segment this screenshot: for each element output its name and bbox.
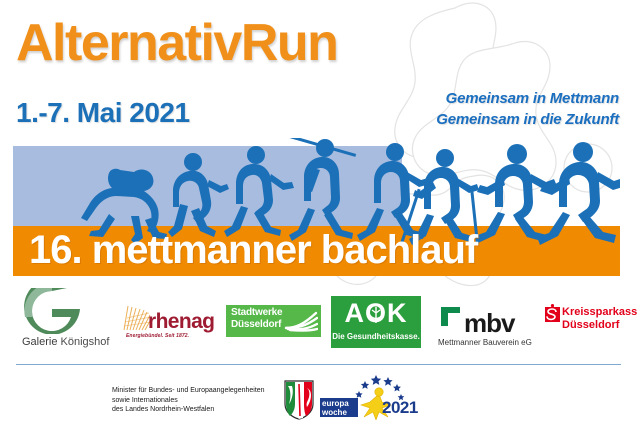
kreissparkasse-line-1: Kreissparkasse (562, 306, 637, 319)
poster-slogan: Gemeinsam in Mettmann Gemeinsam in die Z… (436, 88, 619, 130)
galerie-g-icon (22, 288, 82, 334)
sponsor-galerie-koenigshof[interactable]: Galerie Königshof (22, 288, 122, 358)
stadtwerke-waves-icon (284, 310, 318, 332)
sparkasse-s-icon (545, 304, 560, 322)
europawoche-line-1: europa (322, 399, 349, 408)
rhenag-tagline: Energiebündel. Seit 1872. (126, 333, 189, 339)
slogan-line-1: Gemeinsam in Mettmann (436, 88, 619, 109)
kreissparkasse-line-2: Düsseldorf (562, 319, 637, 332)
poster-title: AlternativRun (16, 16, 337, 70)
koenigshof-word: Königshof (61, 336, 110, 348)
sponsor-mbv[interactable]: mbv Mettmanner Bauverein eG (438, 288, 548, 358)
evolution-band: 16. mettmanner bachlauf (13, 146, 620, 276)
aok-leaf-icon (367, 304, 385, 324)
europawoche-year: 2021 (382, 398, 418, 418)
poster-canvas: AlternativRun 1.-7. Mai 2021 Gemeinsam i… (0, 0, 637, 424)
stadtwerke-line-1: Stadtwerke (231, 307, 282, 319)
nrw-coat-of-arms-icon (284, 380, 314, 420)
stadtwerke-label: Stadtwerke Düsseldorf (231, 307, 282, 331)
galerie-koenigshof-label: Galerie Königshof (22, 336, 109, 348)
mbv-tagline: Mettmanner Bauverein eG (438, 338, 532, 347)
rhenag-wordmark: rhenag (148, 310, 214, 334)
mbv-corner-icon (440, 306, 462, 328)
sponsor-rhenag[interactable]: rhenag Energiebündel. Seit 1872. (122, 288, 220, 358)
footer-divider (16, 364, 621, 365)
europawoche-label: europa woche (322, 399, 349, 417)
ministry-line-1: Minister für Bundes- und Europaangelegen… (112, 386, 265, 396)
band-headline: 16. mettmanner bachlauf (29, 224, 629, 278)
poster-date: 1.-7. Mai 2021 (16, 98, 190, 128)
sponsor-row: Galerie Königshof rhenag Energiebündel. … (0, 288, 637, 358)
ministry-text: Minister für Bundes- und Europaangelegen… (112, 386, 265, 415)
stadtwerke-line-2: Düsseldorf (231, 319, 282, 331)
mbv-wordmark: mbv (464, 308, 514, 339)
ministry-line-2: sowie Internationales (112, 396, 265, 406)
europawoche-logo[interactable]: europa woche 2021 (320, 374, 420, 420)
galerie-word: Galerie (22, 336, 61, 348)
aok-tagline: Die Gesundheitskasse. (331, 332, 421, 341)
kreissparkasse-label: Kreissparkasse Düsseldorf (562, 306, 637, 332)
sponsor-aok[interactable]: AOK Die Gesundheitskasse. (331, 288, 424, 358)
sponsor-stadtwerke-duesseldorf[interactable]: Stadtwerke Düsseldorf (226, 288, 323, 358)
slogan-line-2: Gemeinsam in die Zukunft (436, 109, 619, 130)
ministry-line-3: des Landes Nordrhein-Westfalen (112, 405, 265, 415)
sponsor-kreissparkasse[interactable]: Kreissparkasse Düsseldorf (545, 288, 637, 358)
europawoche-line-2: woche (322, 408, 349, 417)
